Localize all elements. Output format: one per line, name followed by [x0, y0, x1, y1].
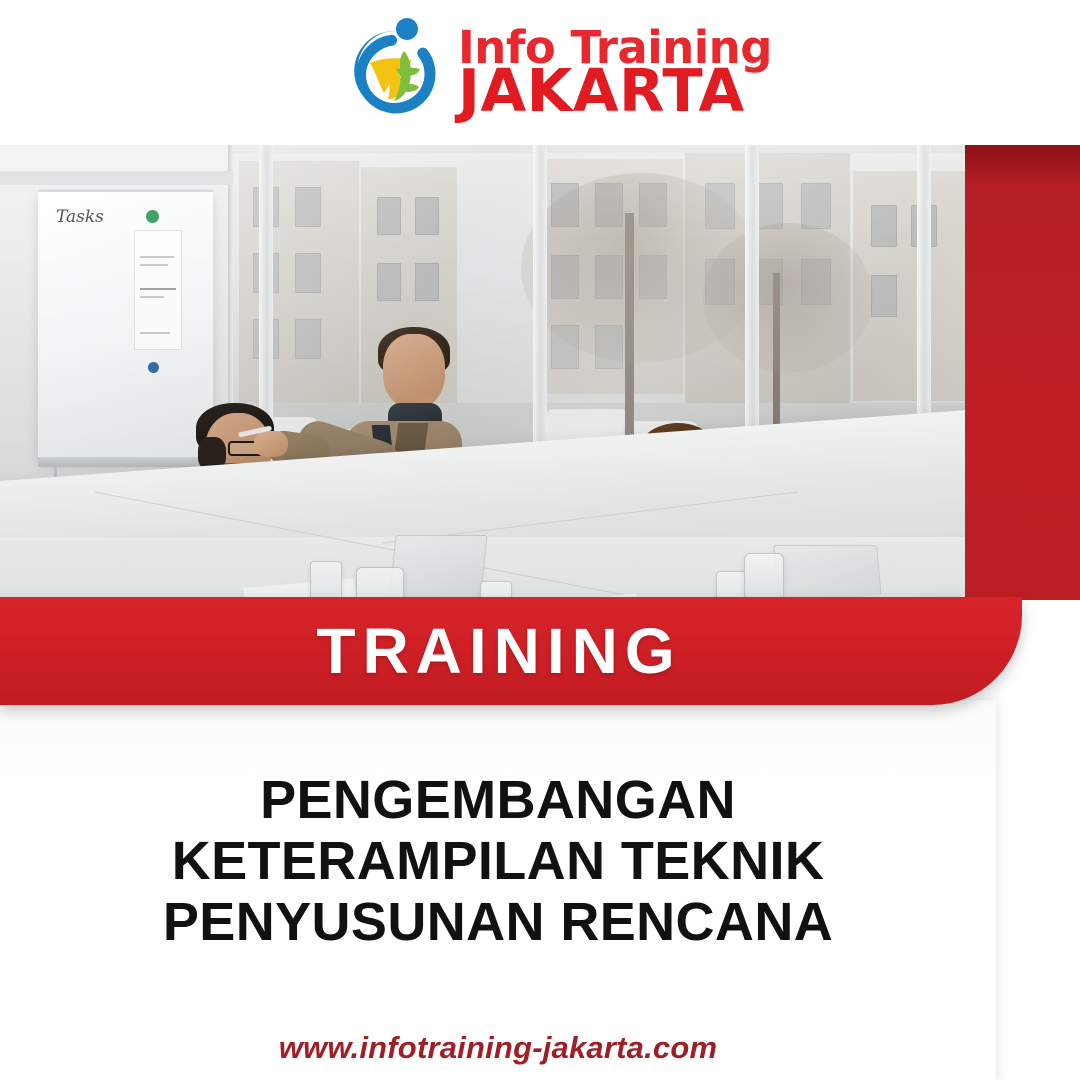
drinking-glass [716, 571, 746, 600]
water-carafe [356, 567, 404, 600]
board-line [140, 332, 170, 334]
topic-line-2: KETERAMPILAN TEKNIK [0, 831, 996, 892]
brand-wordmark: Info Training JAKARTA [458, 27, 772, 119]
card-right-filler [996, 700, 1080, 1080]
content-card: PENGEMBANGAN KETERAMPILAN TEKNIK PENYUSU… [0, 700, 996, 1080]
whiteboard [38, 192, 213, 462]
topic-line-1: PENGEMBANGAN [0, 770, 996, 831]
training-banner: TRAINING [0, 597, 1022, 705]
hero-photo-band: Tasks [0, 145, 1080, 600]
brand-logo[interactable]: Info Training JAKARTA [344, 17, 772, 129]
header-bar: Info Training JAKARTA [0, 0, 1080, 145]
board-dot-green [146, 210, 159, 223]
topic-line-3: PENYUSUNAN RENCANA [0, 892, 996, 953]
flipchart-bottom-bar [38, 457, 213, 467]
brand-line-jakarta: JAKARTA [458, 64, 745, 118]
website-url[interactable]: www.infotraining-jakarta.com [0, 1030, 996, 1066]
board-line [140, 296, 164, 298]
meeting-room-photo: Tasks [0, 145, 965, 600]
poster-canvas: Info Training JAKARTA [0, 0, 1080, 1080]
soffit [0, 171, 236, 185]
banner-title: TRAINING [316, 614, 681, 688]
photo-right-red-strip [965, 145, 1080, 600]
hand [254, 431, 288, 457]
training-topic-title: PENGEMBANGAN KETERAMPILAN TEKNIK PENYUSU… [0, 770, 996, 953]
water-carafe [744, 553, 784, 600]
board-dot-blue [148, 362, 159, 373]
board-line [140, 288, 176, 290]
laptop-screen [773, 545, 883, 600]
board-line [140, 256, 174, 258]
drinking-glass [310, 561, 342, 600]
it-circle-logo-icon [344, 17, 448, 129]
whiteboard-tasks-label: Tasks [56, 207, 104, 227]
board-line [140, 264, 168, 266]
